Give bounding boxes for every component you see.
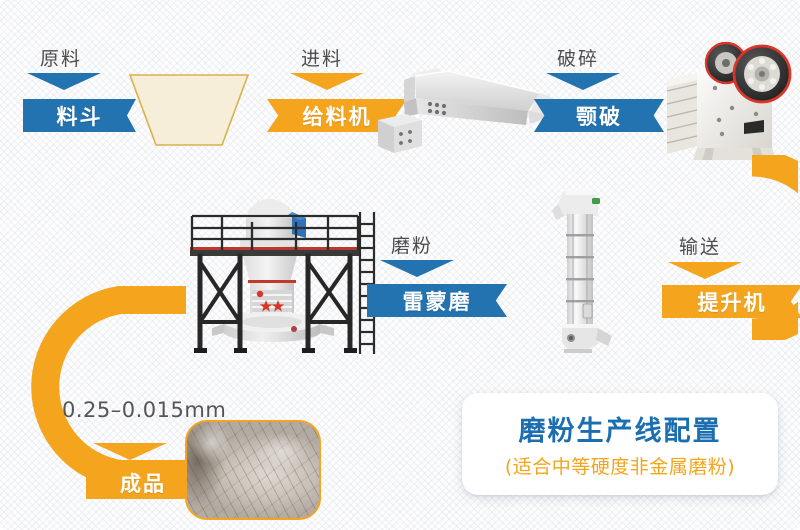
step-badge-raymond-mill[interactable]: 雷蒙磨 (367, 284, 507, 317)
info-card-title: 磨粉生产线配置 (519, 409, 722, 448)
chevron-down-icon (546, 73, 620, 90)
step-badge-bucket-elevator[interactable]: 提升机 (662, 285, 800, 318)
step-caption-grinding: 磨粉 (391, 231, 433, 258)
product-size-label: 0.25–0.015mm (62, 398, 226, 422)
chevron-down-icon (290, 73, 364, 90)
info-card: 磨粉生产线配置 (适合中等硬度非金属磨粉) (462, 393, 778, 495)
step-caption-feeding: 进料 (301, 44, 343, 71)
bucket-elevator-illustration (540, 186, 620, 354)
chevron-down-icon (27, 73, 101, 90)
arc-arrow-icon-left (8, 278, 198, 496)
product-photo-shine (187, 422, 319, 518)
finished-product-photo (185, 420, 321, 520)
chevron-down-icon (380, 260, 454, 277)
vibrating-feeder-illustration (378, 58, 560, 164)
chevron-down-icon (668, 262, 742, 279)
step-badge-hopper[interactable]: 料斗 (23, 99, 136, 132)
process-flow-diagram: 原料 料斗 进料 给料机 (0, 0, 800, 530)
chevron-down-icon (93, 443, 167, 460)
step-caption-raw-material: 原料 (40, 44, 82, 71)
step-badge-finished-product[interactable]: 成品 (86, 466, 200, 499)
step-caption-conveying: 输送 (679, 232, 721, 259)
step-caption-crushing: 破碎 (557, 44, 599, 71)
info-card-subtitle: (适合中等硬度非金属磨粉) (505, 452, 735, 479)
step-badge-jaw-crusher[interactable]: 颚破 (534, 99, 664, 132)
hopper-illustration (128, 72, 250, 148)
jaw-crusher-illustration (664, 28, 798, 164)
